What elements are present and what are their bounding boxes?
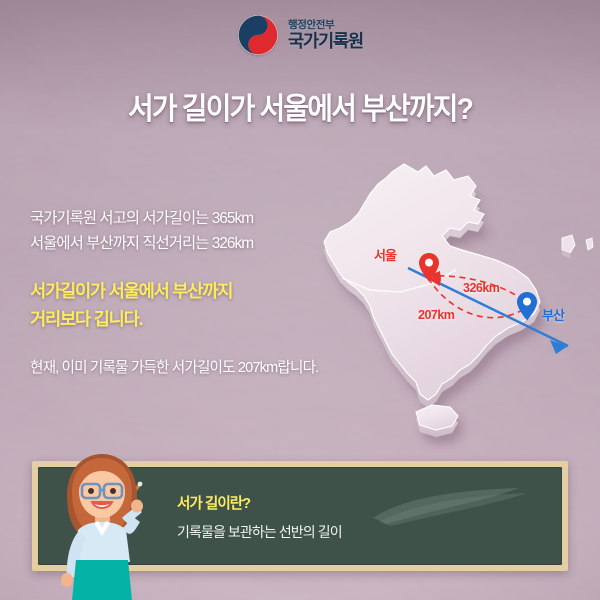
jeju-island (416, 405, 458, 437)
teacher-character (36, 448, 168, 600)
definition-text-block: 서가 길이란? 기록물을 보관하는 선반의 길이 (177, 492, 342, 542)
city-label-busan: 부산 (542, 305, 564, 324)
definition-subtext: 기록물을 보관하는 선반의 길이 (177, 522, 342, 542)
infographic-canvas: 행정안전부 국가기록원 서가 길이가 서울에서 부산까지? 국가기록원 서고의 … (0, 0, 600, 600)
definition-heading: 서가 길이란? (177, 492, 342, 513)
logo-wordmark: 행정안전부 국가기록원 (288, 20, 363, 51)
taegeuk-icon (237, 14, 279, 56)
agency-logo: 행정안전부 국가기록원 (0, 11, 600, 59)
east-sea-islets (562, 235, 593, 258)
map-land-mass (324, 164, 540, 400)
distance-label-straight: 326km (463, 281, 499, 295)
map-pin-icon-busan[interactable] (516, 291, 538, 321)
page-title: 서가 길이가 서울에서 부산까지? (21, 84, 579, 128)
distance-label-filled: 207km (418, 308, 454, 322)
logo-agency-name: 국가기록원 (288, 33, 363, 51)
chalk-smudge-icon (369, 484, 537, 530)
korea-map-svg (300, 150, 600, 440)
korea-map: 서울 부산 326km 207km (300, 150, 600, 440)
map-pin-icon-seoul[interactable] (418, 252, 440, 282)
city-label-seoul: 서울 (374, 245, 396, 264)
logo-ministry-name: 행정안전부 (288, 20, 363, 31)
